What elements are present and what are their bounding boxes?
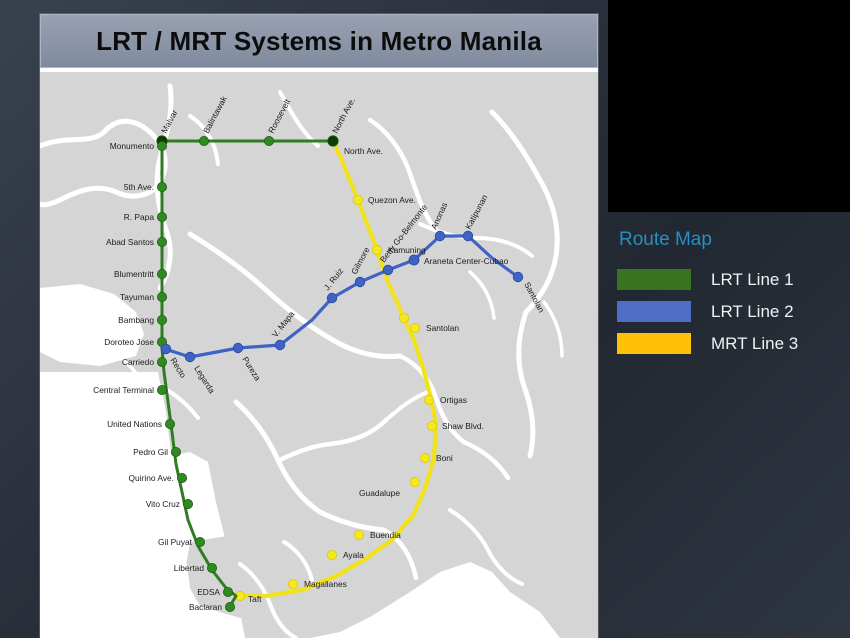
legend-swatch-lrt-line-1 xyxy=(617,269,691,290)
lrt2-station-j-ruiz xyxy=(327,293,337,303)
label-united-nations: United Nations xyxy=(107,419,162,429)
label-ayala: Ayala xyxy=(343,550,364,560)
label-taft: Taft xyxy=(248,594,262,604)
lrt1-station-vito-cruz xyxy=(183,499,192,508)
lrt1-station-north-ave xyxy=(328,136,338,146)
legend-label-lrt-line-2: LRT Line 2 xyxy=(711,302,794,322)
mrt-station-shaw xyxy=(427,421,436,430)
label-magallanes: Magallanes xyxy=(304,579,347,589)
label-central-terminal: Central Terminal xyxy=(93,385,154,395)
lrt2-station-pureza xyxy=(233,343,243,353)
map-panel: LRT / MRT Systems in Metro Manila xyxy=(40,14,598,638)
label-quirino-ave: Quirino Ave. xyxy=(129,473,174,483)
lrt1-station-carriedo xyxy=(157,357,166,366)
lrt1-station-roosevelt xyxy=(264,136,273,145)
label-guadalupe: Guadalupe xyxy=(359,488,400,498)
label-gil-puyat: Gil Puyat xyxy=(158,537,193,547)
page-title: LRT / MRT Systems in Metro Manila xyxy=(96,26,542,57)
label-blumentritt: Blumentritt xyxy=(114,269,155,279)
lrt2-station-recto xyxy=(161,344,171,354)
lrt2-station-anonas xyxy=(435,231,445,241)
label-pedro-gil: Pedro Gil xyxy=(133,447,168,457)
lrt1-station-pedro-gil xyxy=(171,447,180,456)
label-r-papa: R. Papa xyxy=(124,212,155,222)
label-bambang: Bambang xyxy=(118,315,154,325)
legend-swatch-mrt-line-3 xyxy=(617,333,691,354)
map-title-bar: LRT / MRT Systems in Metro Manila xyxy=(40,14,598,68)
slide-root: LRT / MRT Systems in Metro Manila xyxy=(0,0,850,638)
label-ortigas: Ortigas xyxy=(440,395,467,405)
label-edsa: EDSA xyxy=(197,587,220,597)
mrt-station-araneta xyxy=(399,313,408,322)
label-carriedo: Carriedo xyxy=(122,357,154,367)
lrt2-station-gilmore xyxy=(355,277,365,287)
label-libertad: Libertad xyxy=(174,563,205,573)
lrt2-station-katipunan xyxy=(463,231,473,241)
lrt2-station-v-mapa xyxy=(275,340,285,350)
map-canvas[interactable]: Malvar Balintawak Roosevelt North Ave. M… xyxy=(40,72,598,638)
lrt2-station-betty-go xyxy=(383,265,393,275)
legend-label-mrt-line-3: MRT Line 3 xyxy=(711,334,798,354)
black-media-panel xyxy=(608,0,850,212)
lrt1-station-bambang xyxy=(157,315,166,324)
mrt-station-boni xyxy=(420,453,429,462)
lrt1-station-edsa xyxy=(223,587,232,596)
legend-item-mrt-line-3[interactable]: MRT Line 3 xyxy=(617,329,842,358)
lrt2-station-legarda xyxy=(185,352,195,362)
lrt1-station-5th-ave xyxy=(157,182,166,191)
label-tayuman: Tayuman xyxy=(120,292,154,302)
label-monumento: Monumento xyxy=(110,141,155,151)
lrt1-station-blumentritt xyxy=(157,269,166,278)
legend-item-lrt-line-1[interactable]: LRT Line 1 xyxy=(617,265,842,294)
mrt-station-ayala xyxy=(327,550,336,559)
mrt-station-quezon-ave xyxy=(353,195,362,204)
lrt1-station-tayuman xyxy=(157,292,166,301)
lrt1-station-abad-santos xyxy=(157,237,166,246)
legend-swatch-lrt-line-2 xyxy=(617,301,691,322)
lrt1-station-monumento xyxy=(157,141,166,150)
label-quezon-ave: Quezon Ave. xyxy=(368,195,416,205)
lrt1-station-baclaran xyxy=(225,602,234,611)
label-santolan-mrt: Santolan xyxy=(426,323,459,333)
mrt-station-buendia xyxy=(354,530,363,539)
label-abad-santos: Abad Santos xyxy=(106,237,154,247)
label-araneta-center-cubao: Araneta Center-Cubao xyxy=(424,256,509,266)
lrt1-station-libertad xyxy=(207,563,216,572)
label-boni: Boni xyxy=(436,453,453,463)
lrt1-station-gil-puyat xyxy=(195,537,204,546)
mrt-station-guadalupe xyxy=(410,477,419,486)
label-baclaran: Baclaran xyxy=(189,602,222,612)
label-doroteo-jose: Doroteo Jose xyxy=(104,337,154,347)
label-vito-cruz: Vito Cruz xyxy=(146,499,180,509)
label-shaw-blvd: Shaw Blvd. xyxy=(442,421,484,431)
lrt2-station-santolan xyxy=(513,272,523,282)
lrt1-station-balintawak xyxy=(199,136,208,145)
mrt-station-magallanes xyxy=(288,579,297,588)
lrt2-station-araneta xyxy=(409,255,419,265)
legend-item-lrt-line-2[interactable]: LRT Line 2 xyxy=(617,297,842,326)
label-5th-ave: 5th Ave. xyxy=(124,182,154,192)
lrt1-station-r-papa xyxy=(157,212,166,221)
mrt-station-santolan xyxy=(410,323,419,332)
label-buendia: Buendia xyxy=(370,530,401,540)
mrt-station-kamuning xyxy=(372,245,381,254)
mrt-station-ortigas xyxy=(424,395,433,404)
lrt1-station-united-nations xyxy=(165,419,174,428)
legend-label-lrt-line-1: LRT Line 1 xyxy=(711,270,794,290)
lrt1-station-quirino-ave xyxy=(177,473,186,482)
legend-title: Route Map xyxy=(619,230,842,249)
label-north-ave-mrt: North Ave. xyxy=(344,146,383,156)
lrt1-station-central-terminal xyxy=(157,385,166,394)
label-kamuning: Kamuning xyxy=(388,245,426,255)
legend: Route Map LRT Line 1 LRT Line 2 MRT Line… xyxy=(617,230,842,361)
